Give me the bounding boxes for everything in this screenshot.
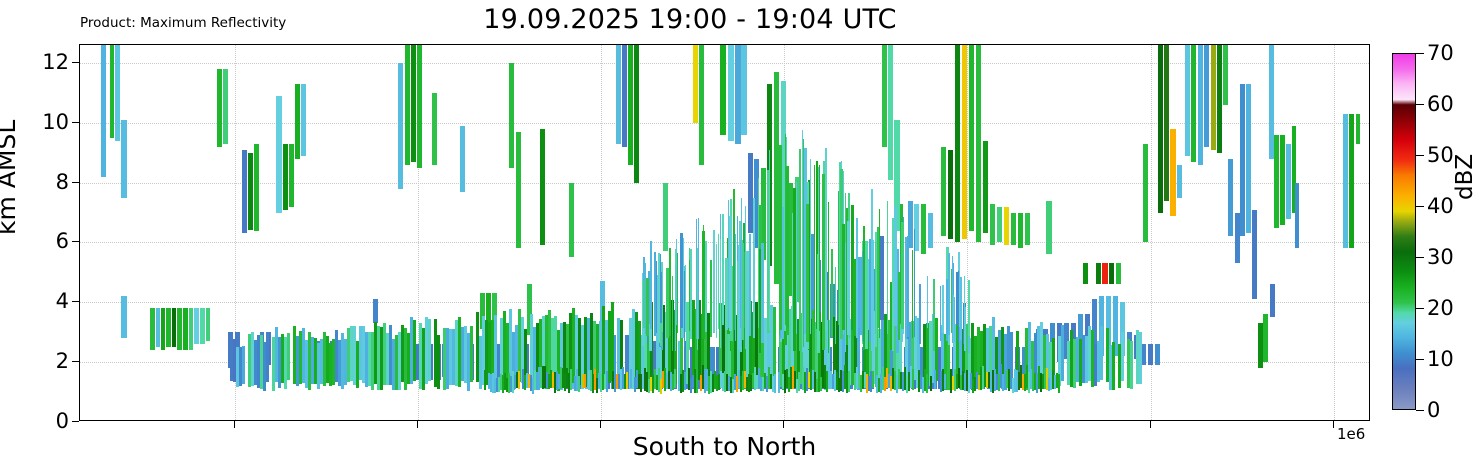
- reflectivity-column: [172, 45, 176, 421]
- reflectivity-column: [907, 45, 909, 421]
- reflectivity-column: [927, 45, 928, 421]
- reflectivity-segment: [428, 319, 431, 381]
- reflectivity-segment: [799, 149, 801, 351]
- reflectivity-column: [853, 45, 856, 421]
- reflectivity-segment: [960, 277, 962, 340]
- reflectivity-column: [200, 45, 205, 421]
- reflectivity-segment: [919, 284, 921, 344]
- reflectivity-column: [868, 45, 869, 421]
- reflectivity-column: [650, 45, 652, 421]
- reflectivity-segment: [806, 204, 809, 342]
- reflectivity-column: [894, 45, 897, 421]
- reflectivity-column: [1198, 45, 1203, 421]
- reflectivity-segment: [287, 333, 290, 380]
- reflectivity-segment: [1170, 129, 1176, 216]
- reflectivity-segment: [933, 279, 935, 351]
- reflectivity-column: [217, 45, 222, 421]
- reflectivity-column: [725, 45, 728, 421]
- reflectivity-column: [646, 45, 649, 421]
- reflectivity-segment: [786, 166, 789, 326]
- reflectivity-segment: [121, 120, 127, 198]
- reflectivity-column: [675, 45, 676, 421]
- reflectivity-segment: [156, 308, 160, 347]
- reflectivity-column: [484, 45, 486, 421]
- colorbar-tick-mark: [1416, 155, 1424, 156]
- reflectivity-segment: [666, 268, 669, 338]
- colorbar[interactable]: [1392, 53, 1416, 410]
- reflectivity-segment: [206, 308, 210, 341]
- reflectivity-segment: [753, 198, 755, 339]
- colorbar-tick-label: 70: [1427, 41, 1454, 65]
- reflectivity-column: [733, 45, 735, 421]
- reflectivity-segment: [905, 237, 907, 339]
- reflectivity-segment: [892, 271, 894, 342]
- reflectivity-column: [115, 45, 120, 421]
- reflectivity-segment: [705, 241, 707, 332]
- reflectivity-column: [584, 45, 586, 421]
- reflectivity-column: [698, 45, 699, 421]
- reflectivity-segment: [865, 241, 868, 349]
- reflectivity-column: [121, 45, 127, 421]
- reflectivity-column: [161, 45, 165, 421]
- reflectivity-column: [901, 45, 904, 421]
- reflectivity-segment: [792, 213, 793, 333]
- reflectivity-column: [677, 45, 678, 421]
- reflectivity-column: [266, 45, 269, 421]
- reflectivity-column: [1158, 45, 1163, 421]
- reflectivity-column: [835, 45, 836, 421]
- reflectivity-column: [958, 45, 959, 421]
- reflectivity-column: [1240, 45, 1245, 421]
- reflectivity-segment: [774, 374, 776, 393]
- reflectivity-segment: [964, 276, 965, 335]
- reflectivity-segment: [729, 216, 732, 331]
- colorbar-tick-mark: [1416, 206, 1424, 207]
- reflectivity-segment: [720, 239, 721, 348]
- reflectivity-column: [940, 45, 941, 421]
- reflectivity-column: [856, 45, 858, 421]
- reflectivity-column: [741, 45, 742, 421]
- y-axis-tick-mark: [72, 241, 79, 242]
- reflectivity-column: [177, 45, 182, 421]
- reflectivity-segment: [177, 308, 182, 350]
- reflectivity-column: [952, 45, 953, 421]
- reflectivity-column: [1286, 45, 1291, 421]
- reflectivity-column: [822, 45, 825, 421]
- reflectivity-column: [753, 45, 755, 421]
- reflectivity-segment: [1246, 84, 1251, 234]
- reflectivity-segment: [1177, 165, 1182, 198]
- reflectivity-column: [1177, 45, 1182, 421]
- reflectivity-segment: [835, 267, 836, 344]
- x-axis-tick-mark: [966, 421, 967, 428]
- reflectivity-column: [847, 45, 850, 421]
- colorbar-tick-label: 20: [1427, 296, 1454, 320]
- reflectivity-segment: [1343, 114, 1348, 249]
- reflectivity-column: [831, 45, 833, 421]
- reflectivity-segment: [875, 242, 876, 334]
- reflectivity-segment: [172, 308, 176, 347]
- reflectivity-column: [779, 45, 782, 421]
- reflectivity-segment: [982, 366, 984, 388]
- reflectivity-column: [845, 45, 846, 421]
- reflectivity-column: [470, 45, 473, 421]
- x-axis-offset-text: 1e6: [1337, 425, 1365, 443]
- reflectivity-column: [948, 45, 950, 421]
- reflectivity-column: [666, 45, 669, 421]
- reflectivity-segment: [814, 165, 815, 325]
- reflectivity-segment: [1130, 341, 1133, 389]
- reflectivity-segment: [847, 221, 850, 335]
- reflectivity-segment: [1002, 374, 1004, 391]
- reflectivity-segment: [898, 272, 900, 341]
- reflectivity-column: [1217, 45, 1222, 421]
- colorbar-tick-mark: [1416, 359, 1424, 360]
- reflectivity-segment: [626, 372, 628, 389]
- reflectivity-column: [819, 45, 820, 421]
- reflectivity-column: [1343, 45, 1348, 421]
- reflectivity-column: [110, 45, 114, 421]
- y-axis-tick-label: 10: [42, 110, 69, 134]
- reflectivity-column: [1356, 45, 1360, 421]
- reflectivity-segment: [1121, 332, 1124, 382]
- colorbar-tick-label: 60: [1427, 92, 1454, 116]
- reflectivity-segment: [1100, 326, 1103, 380]
- colorbar-gradient: [1393, 54, 1415, 409]
- colorbar-title: dBZ: [1452, 154, 1478, 200]
- reflectivity-segment: [677, 253, 678, 333]
- y-axis-tick-mark: [72, 182, 79, 183]
- reflectivity-column: [905, 45, 907, 421]
- reflectivity-column: [1185, 45, 1190, 421]
- reflectivity-segment: [822, 174, 825, 350]
- reflectivity-column: [814, 45, 815, 421]
- reflectivity-segment: [669, 248, 671, 337]
- reflectivity-column: [428, 45, 431, 421]
- reflectivity-column: [1274, 45, 1279, 421]
- reflectivity-segment: [1112, 342, 1115, 390]
- reflectivity-column: [156, 45, 160, 421]
- reflectivity-segment: [842, 224, 845, 330]
- reflectivity-column: [862, 45, 863, 421]
- reflectivity-segment: [166, 308, 171, 347]
- reflectivity-segment: [1198, 45, 1203, 165]
- reflectivity-column: [1204, 45, 1209, 421]
- y-axis-tick-label: 12: [42, 50, 69, 74]
- reflectivity-segment: [741, 198, 742, 347]
- reflectivity-segment: [738, 245, 740, 348]
- reflectivity-segment: [759, 249, 761, 353]
- y-axis-label: km AMSL: [0, 120, 21, 235]
- reflectivity-segment: [952, 256, 953, 342]
- colorbar-tick-mark: [1416, 257, 1424, 258]
- reflectivity-column: [1148, 45, 1153, 421]
- reflectivity-segment: [606, 371, 608, 392]
- reflectivity-segment: [110, 45, 114, 138]
- reflectivity-segment: [819, 165, 820, 331]
- reflectivity-column: [810, 45, 811, 421]
- reflectivity-column: [877, 45, 879, 421]
- reflectivity-column: [287, 45, 290, 421]
- product-label: Product: Maximum Reflectivity: [80, 15, 286, 31]
- reflectivity-segment: [1204, 45, 1209, 147]
- reflectivity-segment: [1280, 135, 1285, 225]
- reflectivity-column: [413, 45, 416, 421]
- reflectivity-column: [570, 45, 572, 421]
- reflectivity-column: [875, 45, 876, 421]
- reflectivity-segment: [1263, 314, 1268, 362]
- reflectivity-segment: [958, 271, 959, 342]
- reflectivity-segment: [802, 162, 803, 352]
- reflectivity-segment: [650, 241, 652, 329]
- reflectivity-segment: [940, 286, 941, 340]
- reflectivity-column: [189, 45, 193, 421]
- reflectivity-column: [1008, 45, 1010, 421]
- reflectivity-segment: [643, 280, 645, 328]
- reflectivity-segment: [646, 278, 649, 336]
- reflectivity-column: [206, 45, 210, 421]
- reflectivity-segment: [680, 233, 683, 328]
- reflectivity-segment: [518, 371, 520, 389]
- y-axis-tick-label: 8: [56, 170, 69, 194]
- reflectivity-column: [942, 45, 944, 421]
- reflectivity-segment: [862, 251, 863, 341]
- reflectivity-segment: [887, 201, 888, 335]
- reflectivity-segment: [828, 204, 829, 353]
- reflectivity-column: [825, 45, 827, 421]
- reflectivity-column: [892, 45, 894, 421]
- reflectivity-segment: [437, 335, 440, 390]
- reflectivity-column: [960, 45, 962, 421]
- reflectivity-segment: [953, 295, 954, 344]
- reflectivity-segment: [1349, 114, 1354, 249]
- plot-area[interactable]: [79, 44, 1370, 421]
- reflectivity-segment: [1164, 45, 1169, 201]
- x-axis-tick-mark: [417, 421, 418, 428]
- reflectivity-column: [1058, 45, 1060, 421]
- x-axis-tick-mark: [1150, 421, 1151, 428]
- reflectivity-column: [643, 45, 645, 421]
- reflectivity-segment: [901, 222, 904, 329]
- reflectivity-column: [1228, 45, 1233, 421]
- reflectivity-segment: [1058, 374, 1060, 394]
- reflectivity-segment: [853, 259, 856, 337]
- y-axis-tick-mark: [72, 301, 79, 302]
- reflectivity-column: [806, 45, 809, 421]
- reflectivity-segment: [200, 308, 205, 344]
- reflectivity-segment: [868, 259, 869, 331]
- reflectivity-segment: [1185, 45, 1190, 156]
- reflectivity-column: [194, 45, 199, 421]
- reflectivity-column: [769, 45, 770, 421]
- reflectivity-column: [242, 45, 245, 421]
- reflectivity-segment: [713, 230, 715, 333]
- reflectivity-column: [1112, 45, 1115, 421]
- reflectivity-segment: [1274, 135, 1279, 228]
- reflectivity-column: [968, 45, 970, 421]
- reflectivity-column: [745, 45, 746, 421]
- reflectivity-segment: [217, 69, 222, 147]
- x-axis-tick-mark: [600, 421, 601, 428]
- reflectivity-column: [799, 45, 801, 421]
- reflectivity-segment: [930, 376, 932, 391]
- reflectivity-column: [685, 45, 686, 421]
- reflectivity-column: [1252, 45, 1257, 421]
- reflectivity-column: [654, 45, 656, 421]
- reflectivity-segment: [725, 258, 728, 329]
- reflectivity-column: [437, 45, 440, 421]
- colorbar-tick-mark: [1416, 308, 1424, 309]
- reflectivity-segment: [894, 206, 897, 326]
- reflectivity-segment: [796, 182, 797, 333]
- reflectivity-column: [842, 45, 845, 421]
- reflectivity-segment: [1061, 325, 1064, 381]
- reflectivity-segment: [413, 320, 416, 381]
- radar-cross-section-figure: 19.09.2025 19:00 - 19:04 UTC Product: Ma…: [0, 0, 1482, 470]
- reflectivity-segment: [183, 308, 188, 350]
- y-axis-tick-label: 2: [56, 349, 69, 373]
- reflectivity-column: [735, 45, 736, 421]
- reflectivity-segment: [716, 244, 717, 337]
- reflectivity-segment: [733, 189, 735, 330]
- reflectivity-column: [713, 45, 715, 421]
- reflectivity-column: [680, 45, 683, 421]
- reflectivity-segment: [1217, 45, 1222, 153]
- reflectivity-segment: [698, 218, 699, 339]
- reflectivity-segment: [942, 285, 944, 333]
- x-axis-tick-mark: [1333, 421, 1334, 428]
- colorbar-tick-label: 10: [1427, 347, 1454, 371]
- reflectivity-segment: [749, 234, 751, 335]
- reflectivity-column: [1295, 45, 1299, 421]
- reflectivity-column: [1130, 45, 1133, 421]
- reflectivity-segment: [685, 265, 686, 333]
- reflectivity-segment: [189, 308, 193, 350]
- y-axis-tick-mark: [72, 122, 79, 123]
- reflectivity-segment: [879, 209, 880, 338]
- reflectivity-segment: [907, 236, 909, 337]
- reflectivity-segment: [831, 249, 833, 336]
- reflectivity-segment: [660, 272, 662, 323]
- reflectivity-column: [710, 45, 712, 421]
- reflectivity-column: [871, 45, 874, 421]
- reflectivity-segment: [161, 308, 165, 350]
- reflectivity-column: [729, 45, 732, 421]
- reflectivity-segment: [584, 374, 586, 388]
- reflectivity-segment: [1139, 332, 1142, 383]
- reflectivity-column: [1191, 45, 1196, 421]
- reflectivity-segment: [242, 346, 245, 385]
- reflectivity-column: [1121, 45, 1124, 421]
- reflectivity-column: [1211, 45, 1216, 421]
- reflectivity-column: [720, 45, 721, 421]
- reflectivity-segment: [948, 253, 950, 336]
- y-axis-tick-mark: [72, 62, 79, 63]
- x-axis-tick-mark: [234, 421, 235, 428]
- reflectivity-segment: [825, 148, 827, 331]
- y-axis-tick-label: 0: [56, 409, 69, 433]
- reflectivity-segment: [718, 234, 719, 329]
- reflectivity-column: [912, 45, 913, 421]
- reflectivity-column: [660, 45, 662, 421]
- reflectivity-column: [689, 45, 690, 421]
- reflectivity-column: [738, 45, 740, 421]
- reflectivity-column: [150, 45, 155, 421]
- reflectivity-segment: [470, 326, 473, 382]
- reflectivity-segment: [735, 234, 736, 341]
- reflectivity-column: [828, 45, 829, 421]
- reflectivity-segment: [1252, 210, 1257, 300]
- reflectivity-segment: [761, 243, 764, 343]
- reflectivity-column: [722, 45, 724, 421]
- reflectivity-column: [1170, 45, 1176, 421]
- reflectivity-segment: [194, 308, 199, 344]
- reflectivity-column: [761, 45, 764, 421]
- reflectivity-segment: [1356, 114, 1360, 144]
- reflectivity-segment: [745, 206, 746, 350]
- reflectivity-column: [786, 45, 789, 421]
- reflectivity-column: [1349, 45, 1354, 421]
- reflectivity-column: [933, 45, 935, 421]
- reflectivity-column: [774, 45, 776, 421]
- reflectivity-column: [626, 45, 628, 421]
- reflectivity-column: [718, 45, 719, 421]
- reflectivity-columns: [80, 45, 1369, 420]
- reflectivity-segment: [722, 214, 724, 325]
- reflectivity-column: [1100, 45, 1103, 421]
- reflectivity-column: [865, 45, 868, 421]
- reflectivity-column: [672, 45, 673, 421]
- reflectivity-segment: [1211, 45, 1216, 150]
- y-axis-tick-label: 4: [56, 289, 69, 313]
- reflectivity-column: [716, 45, 717, 421]
- reflectivity-column: [796, 45, 797, 421]
- reflectivity-column: [792, 45, 793, 421]
- reflectivity-column: [1002, 45, 1004, 421]
- reflectivity-column: [606, 45, 608, 421]
- x-axis-tick-mark: [783, 421, 784, 428]
- reflectivity-segment: [115, 45, 120, 141]
- reflectivity-column: [1061, 45, 1064, 421]
- reflectivity-segment: [150, 308, 155, 350]
- y-axis-tick-mark: [72, 421, 79, 422]
- reflectivity-segment: [1158, 45, 1163, 213]
- y-axis-tick-mark: [72, 361, 79, 362]
- y-axis-tick-label: 6: [56, 229, 69, 253]
- reflectivity-segment: [1148, 344, 1153, 365]
- reflectivity-column: [964, 45, 965, 421]
- reflectivity-column: [879, 45, 880, 421]
- colorbar-tick-label: 40: [1427, 194, 1454, 218]
- reflectivity-column: [930, 45, 932, 421]
- reflectivity-segment: [871, 240, 874, 351]
- reflectivity-column: [166, 45, 171, 421]
- reflectivity-column: [982, 45, 984, 421]
- colorbar-tick-mark: [1416, 104, 1424, 105]
- reflectivity-segment: [654, 252, 656, 337]
- reflectivity-segment: [845, 243, 846, 351]
- reflectivity-segment: [927, 276, 928, 328]
- reflectivity-segment: [101, 45, 106, 177]
- reflectivity-segment: [968, 280, 970, 336]
- x-axis-label: South to North: [79, 432, 1370, 461]
- reflectivity-segment: [877, 227, 879, 329]
- colorbar-tick-label: 0: [1427, 398, 1440, 422]
- reflectivity-column: [101, 45, 106, 421]
- reflectivity-segment: [769, 150, 770, 329]
- colorbar-tick-label: 50: [1427, 143, 1454, 167]
- reflectivity-column: [1246, 45, 1251, 421]
